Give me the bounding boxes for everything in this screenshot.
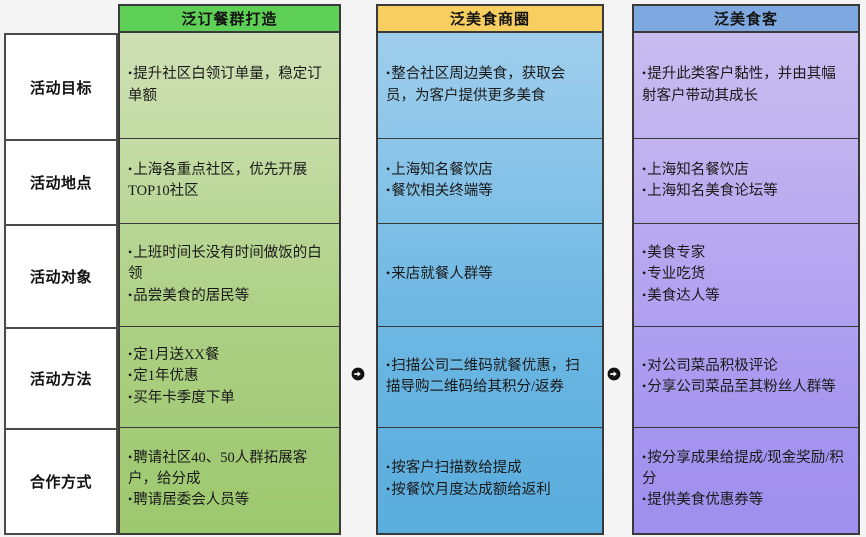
bullet-item: 上海知名餐饮店 <box>386 160 593 181</box>
column-header-green: 泛订餐群打造 <box>118 4 341 33</box>
connector-green-to-blue <box>349 365 367 383</box>
bullet-item: 整合社区周边美食，获取会员，为客户提供更多美食 <box>386 64 593 106</box>
bullet-item: 提供美食优惠券等 <box>642 490 849 511</box>
cell-green-row1: 提升社区白领订单量，稳定订单额 <box>120 33 339 139</box>
cell-purple-row2: 上海知名餐饮店上海知名美食论坛等 <box>634 139 858 224</box>
row-label-activity-method: 活动方法 <box>6 329 116 430</box>
cell-green-row5: 聘请社区40、50人群拓展客户，给分成聘请居委会人员等 <box>120 428 339 531</box>
bullet-item: 美食专家 <box>642 243 849 264</box>
column-header-text: 泛美食客 <box>714 8 778 29</box>
bullet-item: 上海知名美食论坛等 <box>642 181 849 202</box>
column-header-purple: 泛美食客 <box>632 4 860 33</box>
bullet-item: 扫描公司二维码就餐优惠，扫描导购二维码给其积分/返券 <box>386 356 593 398</box>
row-label-column: 活动目标 活动地点 活动对象 活动方法 合作方式 <box>4 33 118 535</box>
bullet-item: 上海知名餐饮店 <box>642 160 849 181</box>
column-purple: 泛美食客 提升此类客户黏性，并由其幅射客户带动其成长上海知名餐饮店上海知名美食论… <box>632 4 860 535</box>
bullet-item: 美食达人等 <box>642 286 849 307</box>
column-body-blue: 整合社区周边美食，获取会员，为客户提供更多美食上海知名餐饮店餐饮相关终端等来店就… <box>376 33 604 535</box>
bullet-item: 聘请社区40、50人群拓展客户，给分成 <box>128 448 330 490</box>
bullet-item: 聘请居委会人员等 <box>128 490 330 511</box>
right-arrow-circle-icon <box>606 366 622 382</box>
bullet-item: 专业吃货 <box>642 264 849 285</box>
bullet-item: 按餐饮月度达成额给返利 <box>386 480 593 501</box>
cell-purple-row4: 对公司菜品积极评论分享公司菜品至其粉丝人群等 <box>634 327 858 428</box>
column-body-green: 提升社区白领订单量，稳定订单额上海各重点社区，优先开展TOP10社区上班时间长没… <box>118 33 341 535</box>
cell-blue-row3: 来店就餐人群等 <box>378 224 602 327</box>
bullet-item: 买年卡季度下单 <box>128 388 330 409</box>
column-header-blue: 泛美食商圈 <box>376 4 604 33</box>
cell-green-row2: 上海各重点社区，优先开展TOP10社区 <box>120 139 339 224</box>
row-label-text: 活动方法 <box>30 368 92 389</box>
cell-blue-row2: 上海知名餐饮店餐饮相关终端等 <box>378 139 602 224</box>
bullet-item: 定1月送XX餐 <box>128 345 330 366</box>
row-label-activity-goal: 活动目标 <box>6 35 116 141</box>
row-label-activity-target: 活动对象 <box>6 226 116 329</box>
diagram-canvas: 活动目标 活动地点 活动对象 活动方法 合作方式 泛订餐群打造 提升社区白领订单… <box>0 0 866 537</box>
bullet-item: 品尝美食的居民等 <box>128 286 330 307</box>
cell-green-row4: 定1月送XX餐定1年优惠买年卡季度下单 <box>120 327 339 428</box>
cell-blue-row1: 整合社区周边美食，获取会员，为客户提供更多美食 <box>378 33 602 139</box>
bullet-item: 来店就餐人群等 <box>386 264 593 285</box>
bullet-item: 按分享成果给提成/现金奖励/积分 <box>642 448 849 490</box>
connector-blue-to-purple <box>605 365 623 383</box>
right-arrow-circle-icon <box>350 366 366 382</box>
row-label-text: 活动对象 <box>30 266 92 287</box>
bullet-item: 对公司菜品积极评论 <box>642 356 849 377</box>
bullet-item: 提升此类客户黏性，并由其幅射客户带动其成长 <box>642 64 849 106</box>
column-header-text: 泛美食商圈 <box>450 8 530 29</box>
cell-purple-row3: 美食专家专业吃货美食达人等 <box>634 224 858 327</box>
bullet-item: 按客户扫描数给提成 <box>386 458 593 479</box>
bullet-item: 上海各重点社区，优先开展TOP10社区 <box>128 160 330 202</box>
column-header-text: 泛订餐群打造 <box>181 8 277 29</box>
row-label-activity-location: 活动地点 <box>6 141 116 226</box>
bullet-item: 提升社区白领订单量，稳定订单额 <box>128 64 330 106</box>
cell-green-row3: 上班时间长没有时间做饭的白领品尝美食的居民等 <box>120 224 339 327</box>
cell-blue-row5: 按客户扫描数给提成按餐饮月度达成额给返利 <box>378 428 602 531</box>
row-label-text: 合作方式 <box>30 471 92 492</box>
column-blue: 泛美食商圈 整合社区周边美食，获取会员，为客户提供更多美食上海知名餐饮店餐饮相关… <box>376 4 604 535</box>
row-label-cooperation-mode: 合作方式 <box>6 430 116 533</box>
column-green: 泛订餐群打造 提升社区白领订单量，稳定订单额上海各重点社区，优先开展TOP10社… <box>118 4 341 535</box>
cell-blue-row4: 扫描公司二维码就餐优惠，扫描导购二维码给其积分/返券 <box>378 327 602 428</box>
bullet-item: 定1年优惠 <box>128 366 330 387</box>
cell-purple-row1: 提升此类客户黏性，并由其幅射客户带动其成长 <box>634 33 858 139</box>
cell-purple-row5: 按分享成果给提成/现金奖励/积分提供美食优惠券等 <box>634 428 858 531</box>
bullet-item: 上班时间长没有时间做饭的白领 <box>128 243 330 285</box>
column-body-purple: 提升此类客户黏性，并由其幅射客户带动其成长上海知名餐饮店上海知名美食论坛等美食专… <box>632 33 860 535</box>
row-label-text: 活动地点 <box>30 172 92 193</box>
bullet-item: 餐饮相关终端等 <box>386 181 593 202</box>
bullet-item: 分享公司菜品至其粉丝人群等 <box>642 377 849 398</box>
row-label-text: 活动目标 <box>30 77 92 98</box>
